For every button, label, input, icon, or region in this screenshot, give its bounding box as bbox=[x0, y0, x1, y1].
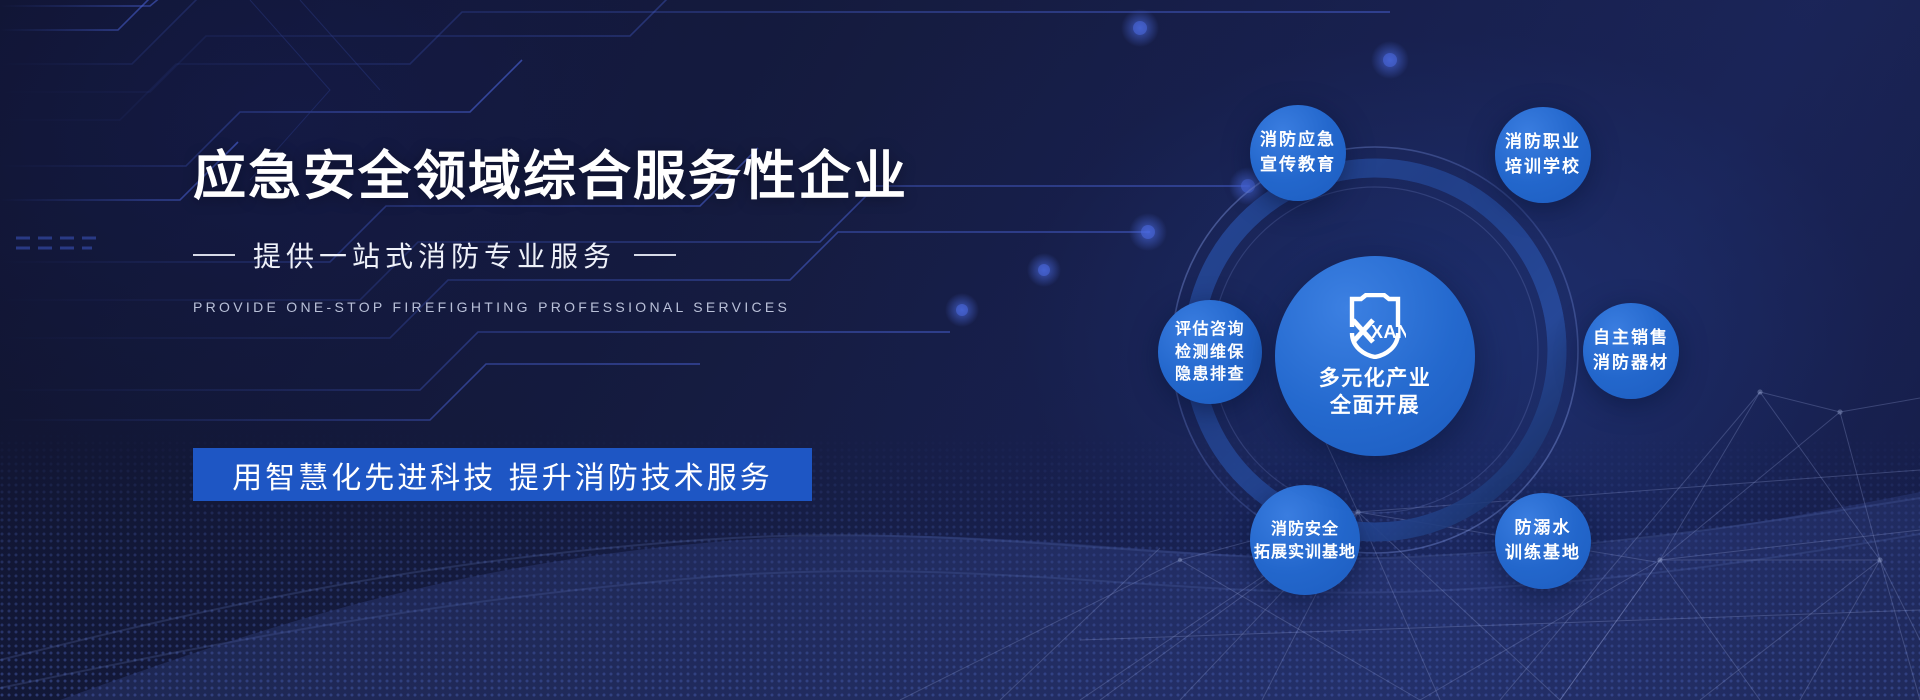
center-title-line2: 全面开展 bbox=[1330, 392, 1420, 419]
node-publicity[interactable]: 消防应急 宣传教育 bbox=[1250, 105, 1346, 201]
node-training-line2: 拓展实训基地 bbox=[1254, 540, 1356, 563]
shield-icon: XAN bbox=[1344, 293, 1406, 359]
cta-banner[interactable]: 用智慧化先进科技 提升消防技术服务 bbox=[193, 448, 812, 501]
node-assessment-line3: 隐患排查 bbox=[1175, 363, 1245, 385]
node-training-line1: 消防安全 bbox=[1271, 517, 1339, 540]
rule-left-icon bbox=[193, 254, 235, 256]
logo-wordmark: XAN bbox=[1371, 322, 1406, 342]
node-school-line2: 培训学校 bbox=[1505, 155, 1581, 180]
subtitle-row: 提供一站式消防专业服务 bbox=[193, 235, 953, 275]
rule-right-icon bbox=[634, 254, 676, 256]
node-school-line1: 消防职业 bbox=[1505, 130, 1581, 155]
node-water[interactable]: 防溺水 训练基地 bbox=[1495, 493, 1591, 589]
node-school[interactable]: 消防职业 培训学校 bbox=[1495, 107, 1591, 203]
node-assessment-line1: 评估咨询 bbox=[1175, 318, 1245, 340]
node-assessment-line2: 检测维保 bbox=[1175, 341, 1245, 363]
node-sales-line1: 自主销售 bbox=[1593, 326, 1669, 351]
node-publicity-line1: 消防应急 bbox=[1260, 128, 1336, 153]
node-assessment[interactable]: 评估咨询 检测维保 隐患排查 bbox=[1158, 300, 1262, 404]
center-title-line1: 多元化产业 bbox=[1319, 365, 1432, 392]
headline-block: 应急安全领域综合服务性企业 提供一站式消防专业服务 PROVIDE ONE-ST… bbox=[193, 150, 953, 315]
english-tagline: PROVIDE ONE-STOP FIREFIGHTING PROFESSION… bbox=[193, 299, 953, 315]
hero-banner: 应急安全领域综合服务性企业 提供一站式消防专业服务 PROVIDE ONE-ST… bbox=[0, 0, 1920, 700]
node-sales[interactable]: 自主销售 消防器材 bbox=[1583, 303, 1679, 399]
node-water-line1: 防溺水 bbox=[1515, 516, 1572, 541]
services-orbit-diagram: 消防应急 宣传教育 消防职业 培训学校 自主销售 消防器材 防溺水 训练基地 消… bbox=[1100, 60, 1660, 620]
node-water-line2: 训练基地 bbox=[1505, 541, 1581, 566]
cta-label: 用智慧化先进科技 提升消防技术服务 bbox=[232, 453, 773, 497]
node-publicity-line2: 宣传教育 bbox=[1260, 153, 1336, 178]
node-center-core[interactable]: XAN 多元化产业 全面开展 bbox=[1275, 256, 1475, 456]
node-training[interactable]: 消防安全 拓展实训基地 bbox=[1250, 485, 1360, 595]
page-subtitle: 提供一站式消防专业服务 bbox=[253, 235, 616, 275]
node-sales-line2: 消防器材 bbox=[1593, 351, 1669, 376]
page-title: 应急安全领域综合服务性企业 bbox=[193, 150, 953, 203]
